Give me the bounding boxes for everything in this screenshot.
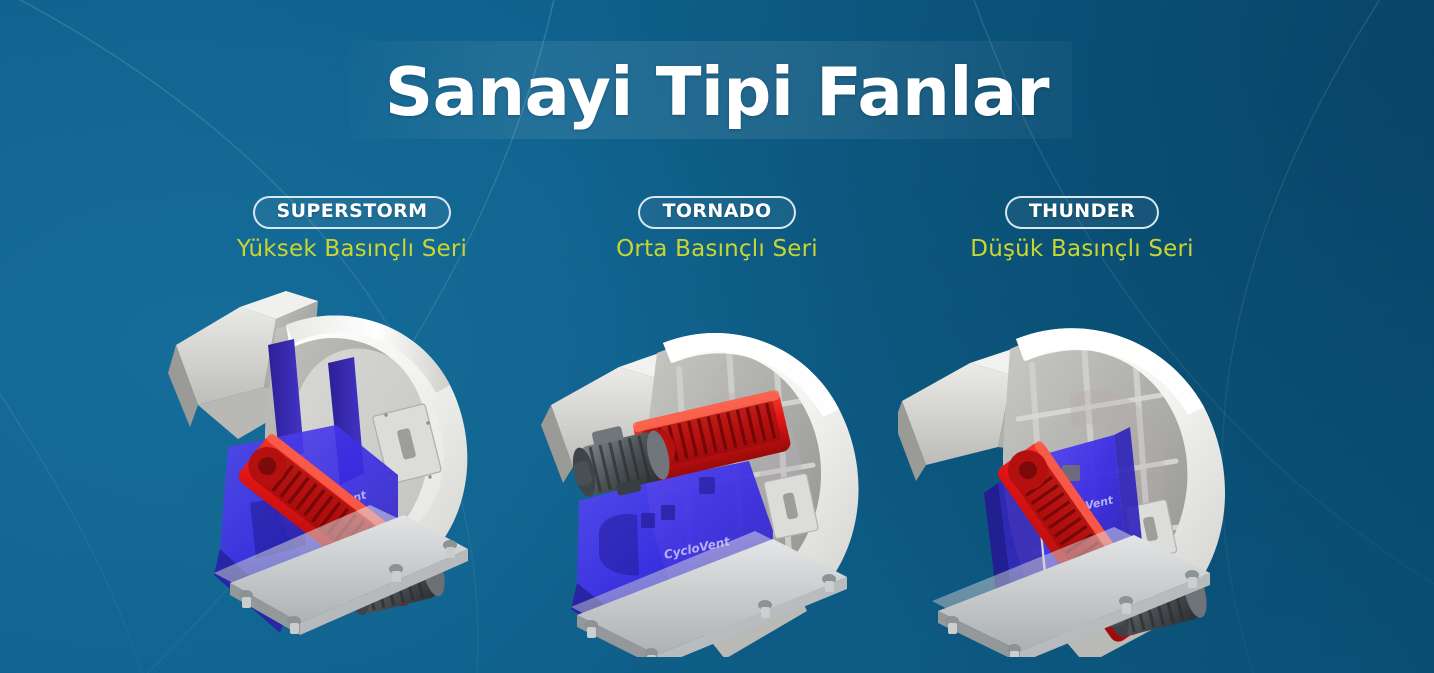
product-image-thunder: CycloVent [898, 277, 1266, 657]
product-badge-tornado[interactable]: TORNADO [638, 196, 795, 229]
product-badge-superstorm[interactable]: SUPERSTORM [253, 196, 452, 229]
product-card-thunder[interactable]: THUNDER Düşük Basınçlı Seri [898, 196, 1266, 666]
product-subtitle-tornado: Orta Basınçlı Seri [616, 236, 818, 263]
product-subtitle-thunder: Düşük Basınçlı Seri [970, 236, 1193, 263]
product-image-tornado: CycloVent [533, 277, 901, 657]
high-pressure-centrifugal-fan-render-icon: CycloVent [168, 277, 536, 657]
product-card-tornado[interactable]: TORNADO Orta Basınçlı Seri [533, 196, 901, 666]
hero-banner: Sanayi Tipi Fanlar SUPERSTORM Yüksek Bas… [0, 0, 1434, 673]
low-pressure-centrifugal-fan-render-icon: CycloVent [898, 277, 1266, 657]
product-row: SUPERSTORM Yüksek Basınçlı Seri [0, 196, 1434, 666]
product-badge-thunder[interactable]: THUNDER [1005, 196, 1159, 229]
product-image-superstorm: CycloVent [168, 277, 536, 657]
product-subtitle-superstorm: Yüksek Basınçlı Seri [237, 236, 467, 263]
page-title: Sanayi Tipi Fanlar [0, 46, 1434, 138]
medium-pressure-centrifugal-fan-render-icon: CycloVent [533, 277, 901, 657]
product-card-superstorm[interactable]: SUPERSTORM Yüksek Basınçlı Seri [168, 196, 536, 666]
